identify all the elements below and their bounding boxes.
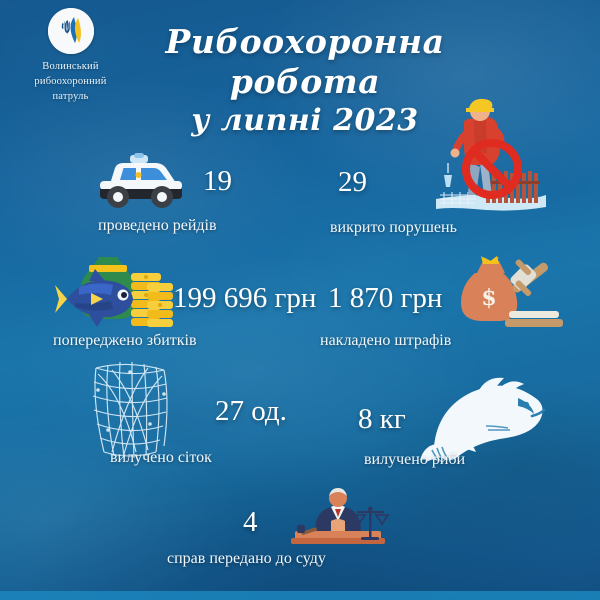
stat-violations-caption: викрито порушень [330,218,457,237]
stat-fines-caption: накладено штрафів [320,331,451,350]
stat-raids: 19 проведено рейдів [60,140,290,250]
infographic-poster: Волинський рибоохоронний патруль Рибоохо… [0,0,600,600]
stat-fish-seized-caption: вилучено риби [364,450,465,469]
stat-fish-seized: 8 кг вилучено риби [340,370,590,475]
stat-violations-value: 29 [338,167,367,197]
stat-court-cases-value: 4 [243,507,258,537]
stat-court-cases-caption: справ передано до суду [167,549,326,568]
stat-nets-seized-value: 27 од. [215,396,287,426]
svg-text:$: $ [481,285,496,311]
police-car-icon [90,150,190,212]
bottom-accent-bar [0,591,600,600]
judge-gavel-scales-icon [285,487,395,549]
stat-fines-value: 1 870 грн [328,283,442,313]
brand-line-1: Волинський [8,59,133,74]
page-title: Рибоохоронна робота у липні 2023 [95,22,515,140]
money-bag-gavel-icon: $ [453,255,565,333]
ukraine-trident-wave-logo-icon [48,8,94,54]
stat-raids-caption: проведено рейдів [98,216,217,235]
stat-prevented-losses-caption: попереджено збитків [53,331,197,350]
stat-prevented-losses-value: 199 696 грн [173,283,316,313]
stat-nets-seized: 27 од. вилучено сіток [70,360,320,475]
stat-fish-seized-value: 8 кг [358,404,406,434]
brand-line-2: рибоохоронний [8,74,133,89]
brand-block: Волинський рибоохоронний патруль [8,8,133,104]
stat-prevented-losses: 199 696 грн попереджено збитків [45,255,325,365]
stat-nets-seized-caption: вилучено сіток [110,448,212,467]
stat-raids-value: 19 [203,166,232,196]
brand-line-3: патруль [8,89,133,104]
fish-money-coins-icon [55,255,175,337]
title-line-2: у липні 2023 [95,102,515,140]
stat-fines: $ 1 870 грн накладено штрафів [318,255,588,365]
title-line-1: Рибоохоронна робота [95,22,515,102]
stat-court-cases: 4 справ передано до суду [165,485,445,575]
